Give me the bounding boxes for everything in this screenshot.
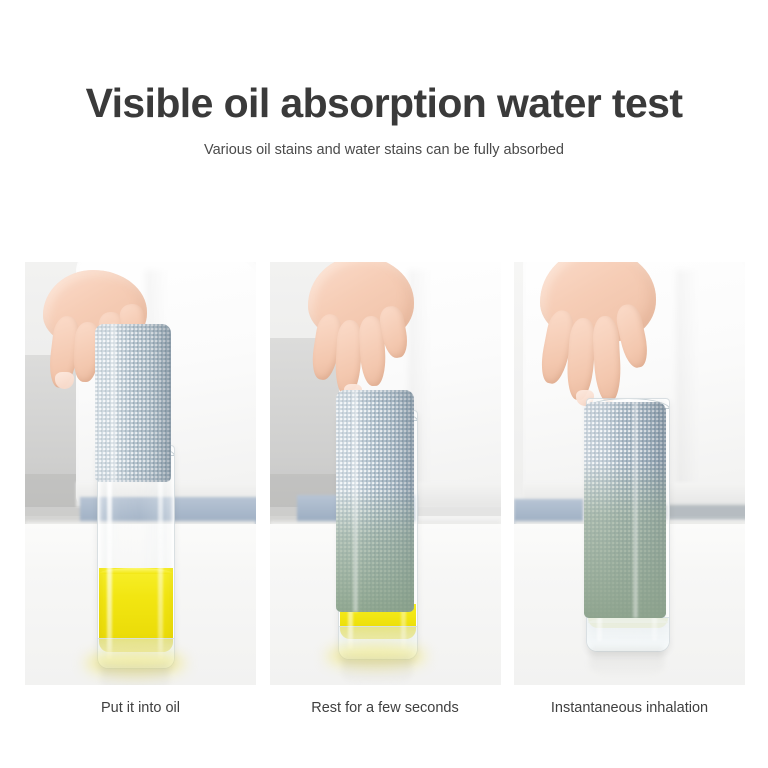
photo-scene-instant-inhalation	[514, 262, 745, 685]
demo-panel-1	[25, 262, 256, 685]
photo-scene-put-into-oil	[25, 262, 256, 685]
microfiber-cloth	[336, 390, 414, 612]
glass-highlight-right	[158, 455, 163, 659]
cloth-crease	[110, 324, 117, 482]
cloth-absorbed-zone	[336, 488, 414, 612]
header: Visible oil absorption water test Variou…	[0, 0, 768, 158]
caption-panel-2: Rest for a few seconds	[270, 700, 501, 716]
shirt-fold	[676, 270, 699, 490]
photo-scene-rest-seconds	[270, 262, 501, 685]
page-title: Visible oil absorption water test	[0, 0, 768, 125]
page-subtitle: Various oil stains and water stains can …	[0, 125, 768, 158]
glass-reflection	[590, 648, 664, 678]
microfiber-cloth	[584, 402, 666, 618]
product-feature-page: Visible oil absorption water test Variou…	[0, 0, 768, 768]
glass-highlight-left	[107, 455, 112, 659]
microfiber-cloth	[95, 324, 171, 482]
glass-reflection	[342, 656, 412, 685]
demo-panel-2	[270, 262, 501, 685]
cloth-shading	[95, 324, 171, 482]
caption-panel-3: Instantaneous inhalation	[514, 700, 745, 716]
caption-row: Put it into oil Rest for a few seconds I…	[25, 700, 745, 716]
demo-panel-strip	[25, 262, 745, 685]
cloth-absorbed-zone	[584, 462, 666, 618]
demo-panel-3	[514, 262, 745, 685]
cloth-crease	[632, 402, 639, 618]
caption-panel-1: Put it into oil	[25, 700, 256, 716]
glass-reflection	[101, 664, 169, 685]
cloth-crease	[352, 390, 359, 612]
